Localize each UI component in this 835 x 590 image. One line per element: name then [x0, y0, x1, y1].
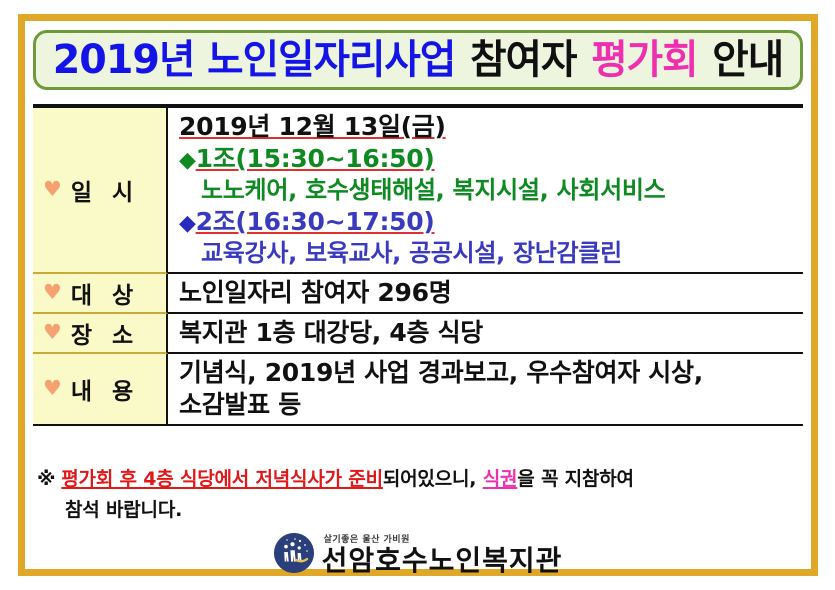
group2-jobs: 교육강사, 보육교사, 공공시설, 장난감클린 — [201, 239, 622, 267]
poster-canvas: 2019년 노인일자리사업 참여자 평가회 안내 ♥ 일 시 2019년 12월… — [0, 0, 835, 590]
row-label-datetime: ♥ 일 시 — [33, 108, 168, 274]
frame-border-top — [18, 14, 818, 21]
content-line: 노인일자리 참여자 296명 — [179, 277, 803, 309]
footnote-plain-2: 을 꼭 지참하여 — [517, 468, 634, 490]
group2-time: 2조(16:30~17:50) — [196, 207, 435, 236]
group1-jobs: 노노케어, 호수생태해설, 복지시설, 사회서비스 — [201, 176, 665, 204]
footnote-plain-1: 되어있으니, — [383, 468, 483, 490]
diamond-icon: ◆ — [179, 148, 196, 173]
heart-icon: ♥ — [43, 179, 62, 200]
row-label-venue: ♥ 장 소 — [33, 314, 168, 354]
footnote-line-2: 참석 바랍니다. — [37, 495, 807, 526]
frame-border-left — [18, 14, 25, 576]
title-segment-participant: 참여자 — [469, 37, 577, 83]
row-label-text: 내 용 — [71, 372, 139, 406]
content-line: 교육강사, 보육교사, 공공시설, 장난감클린 — [179, 238, 803, 269]
row-label-text: 장 소 — [71, 316, 139, 350]
row-label-program: ♥ 내 용 — [33, 354, 168, 424]
table-row: ♥ 일 시 2019년 12월 13일(금) ◆1조(15:30~16:50) … — [33, 108, 803, 274]
footnote: ※평가회 후 4층 식당에서 저녁식사가 준비되어있으니, 식권을 꼭 지참하여… — [37, 464, 807, 526]
group1-time: 1조(15:30~16:50) — [196, 144, 435, 173]
table-row: ♥ 내 용 기념식, 2019년 사업 경과보고, 우수참여자 시상, 소감발표… — [33, 354, 803, 424]
footnote-dinner-notice: 평가회 후 4층 식당에서 저녁식사가 준비 — [61, 468, 383, 490]
welfare-center-emblem-icon — [274, 533, 314, 573]
poster-content: 2019년 노인일자리사업 참여자 평가회 안내 ♥ 일 시 2019년 12월… — [25, 21, 811, 569]
content-line: 복지관 1층 대강당, 4층 식당 — [179, 317, 803, 349]
frame-border-right — [811, 14, 818, 576]
row-label-text: 일 시 — [71, 173, 139, 207]
logo-organization-name: 선암호수노인복지관 — [322, 547, 563, 575]
content-line: ◆1조(15:30~16:50) — [179, 143, 803, 175]
content-line: 2019년 12월 13일(금) — [179, 111, 803, 143]
footnote-line-1: ※평가회 후 4층 식당에서 저녁식사가 준비되어있으니, 식권을 꼭 지참하여 — [37, 464, 807, 495]
row-label-text: 대 상 — [71, 276, 139, 310]
content-line: 소감발표 등 — [179, 389, 803, 421]
table-row: ♥ 장 소 복지관 1층 대강당, 4층 식당 — [33, 314, 803, 354]
heart-icon: ♥ — [43, 322, 62, 343]
diamond-icon: ◆ — [179, 211, 196, 236]
organization-logo: 살기좋은 울산 가비원 선암호수노인복지관 — [25, 533, 811, 575]
row-label-target: ♥ 대 상 — [33, 274, 168, 314]
page-title: 2019년 노인일자리사업 참여자 평가회 안내 — [52, 40, 784, 80]
content-line: ◆2조(16:30~17:50) — [179, 206, 803, 238]
title-segment-notice: 안내 — [711, 37, 784, 83]
title-segment-evaluation: 평가회 — [590, 37, 698, 83]
title-banner: 2019년 노인일자리사업 참여자 평가회 안내 — [33, 30, 803, 90]
row-content-program: 기념식, 2019년 사업 경과보고, 우수참여자 시상, 소감발표 등 — [168, 354, 803, 424]
event-date: 2019년 12월 13일(금) — [179, 112, 446, 141]
content-line: 기념식, 2019년 사업 경과보고, 우수참여자 시상, — [179, 357, 803, 389]
heart-icon: ♥ — [43, 282, 62, 303]
footnote-meal-ticket: 식권 — [483, 468, 518, 490]
logo-wordmark: 살기좋은 울산 가비원 선암호수노인복지관 — [322, 536, 563, 575]
info-table: ♥ 일 시 2019년 12월 13일(금) ◆1조(15:30~16:50) … — [33, 104, 803, 426]
row-content-venue: 복지관 1층 대강당, 4층 식당 — [168, 314, 803, 354]
row-content-target: 노인일자리 참여자 296명 — [168, 274, 803, 314]
row-content-datetime: 2019년 12월 13일(금) ◆1조(15:30~16:50) 노노케어, … — [168, 108, 803, 274]
title-segment-year-program: 2019년 노인일자리사업 — [52, 37, 457, 83]
heart-icon: ♥ — [43, 378, 62, 399]
content-line: 노노케어, 호수생태해설, 복지시설, 사회서비스 — [179, 175, 803, 206]
table-row: ♥ 대 상 노인일자리 참여자 296명 — [33, 274, 803, 314]
reference-mark-icon: ※ — [37, 468, 55, 490]
